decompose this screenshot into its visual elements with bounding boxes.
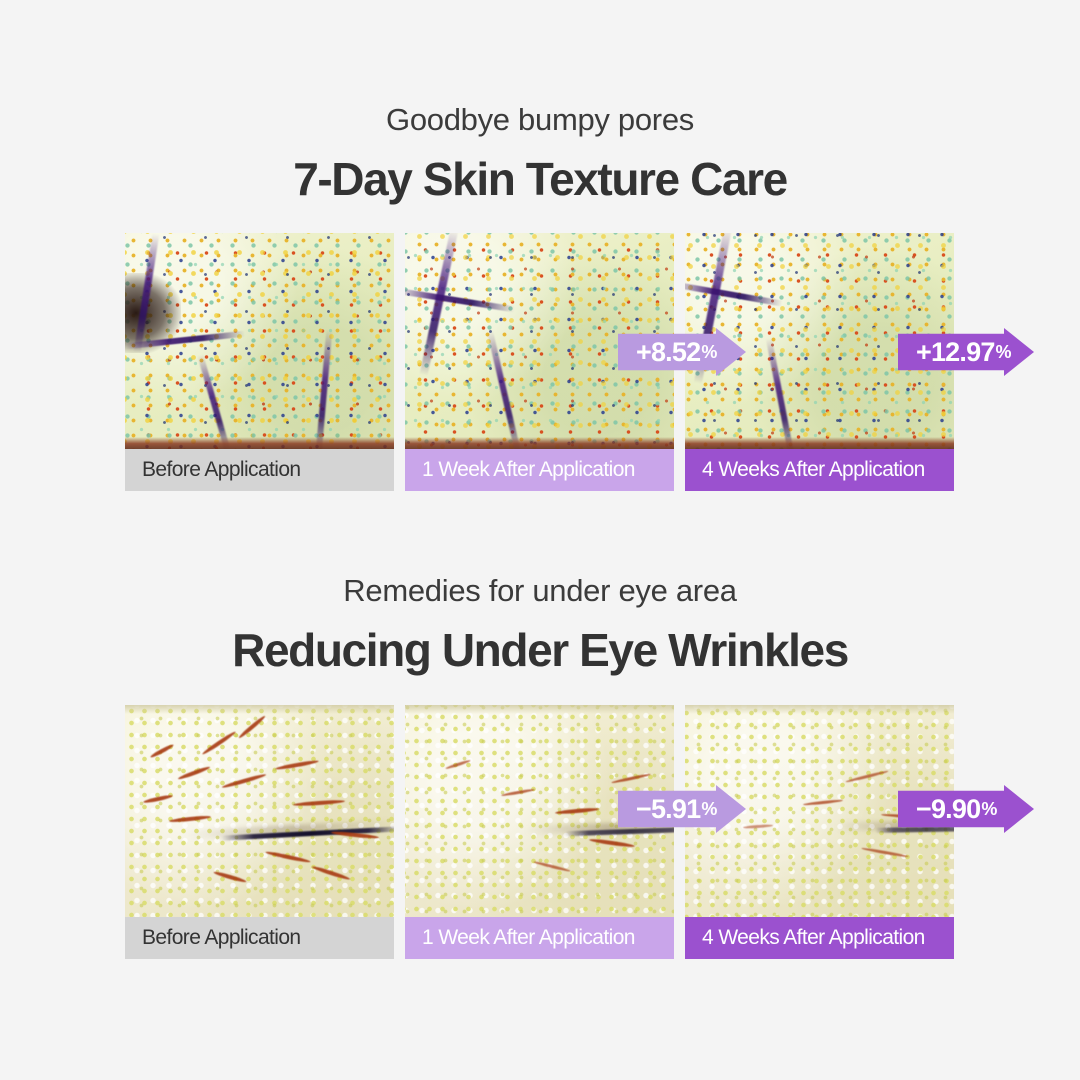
caption-week4-wrinkle: 4 Weeks After Application — [685, 917, 954, 959]
badge-unit: % — [996, 342, 1012, 363]
badge-value: −9.90 — [916, 794, 980, 825]
panel-before-wrinkle: Before Application — [125, 705, 394, 959]
lower-skin-edge — [685, 437, 954, 449]
badge-unit: % — [701, 342, 717, 363]
infographic-page: Goodbye bumpy pores 7-Day Skin Texture C… — [0, 0, 1080, 1080]
lower-skin-edge — [125, 437, 394, 449]
caption-week4-texture: 4 Weeks After Application — [685, 449, 954, 491]
section-1-eyebrow: Goodbye bumpy pores — [0, 104, 1080, 135]
caption-week1-wrinkle: 1 Week After Application — [405, 917, 674, 959]
eye-speckle-layer-b — [125, 705, 394, 917]
badge-value: +8.52 — [636, 337, 700, 368]
section-1-panel-row: Before Application 1 Week After Applicat… — [125, 233, 954, 491]
badge-value: +12.97 — [916, 337, 995, 368]
panel-before-texture: Before Application — [125, 233, 394, 491]
section-2-headline: Reducing Under Eye Wrinkles — [0, 627, 1080, 673]
section-1-heading-group: Goodbye bumpy pores 7-Day Skin Texture C… — [0, 104, 1080, 202]
badge-value: −5.91 — [636, 794, 700, 825]
reduction-badge-week4-wrinkle: −9.90 % — [898, 785, 1034, 833]
caption-before-wrinkle: Before Application — [125, 917, 394, 959]
lower-skin-edge — [405, 437, 674, 449]
section-1-headline: 7-Day Skin Texture Care — [0, 156, 1080, 202]
badge-unit: % — [981, 799, 997, 820]
skin-texture-image-before — [125, 233, 394, 449]
upper-skin-band — [125, 705, 394, 714]
caption-week1-texture: 1 Week After Application — [405, 449, 674, 491]
section-2-eyebrow: Remedies for under eye area — [0, 575, 1080, 606]
panel-week1-texture: 1 Week After Application +8.52 % — [405, 233, 674, 491]
badge-unit: % — [701, 799, 717, 820]
panel-week4-wrinkle: 4 Weeks After Application −9.90 % — [685, 705, 954, 959]
panel-week1-wrinkle: 1 Week After Application −5.91 % — [405, 705, 674, 959]
section-2-panel-row: Before Application 1 Week After Applicat… — [125, 705, 954, 959]
upper-skin-band — [685, 705, 954, 714]
section-2-heading-group: Remedies for under eye area Reducing Und… — [0, 575, 1080, 673]
upper-skin-band — [405, 705, 674, 714]
under-eye-image-before — [125, 705, 394, 917]
improvement-badge-week4-texture: +12.97 % — [898, 328, 1034, 376]
caption-before-texture: Before Application — [125, 449, 394, 491]
